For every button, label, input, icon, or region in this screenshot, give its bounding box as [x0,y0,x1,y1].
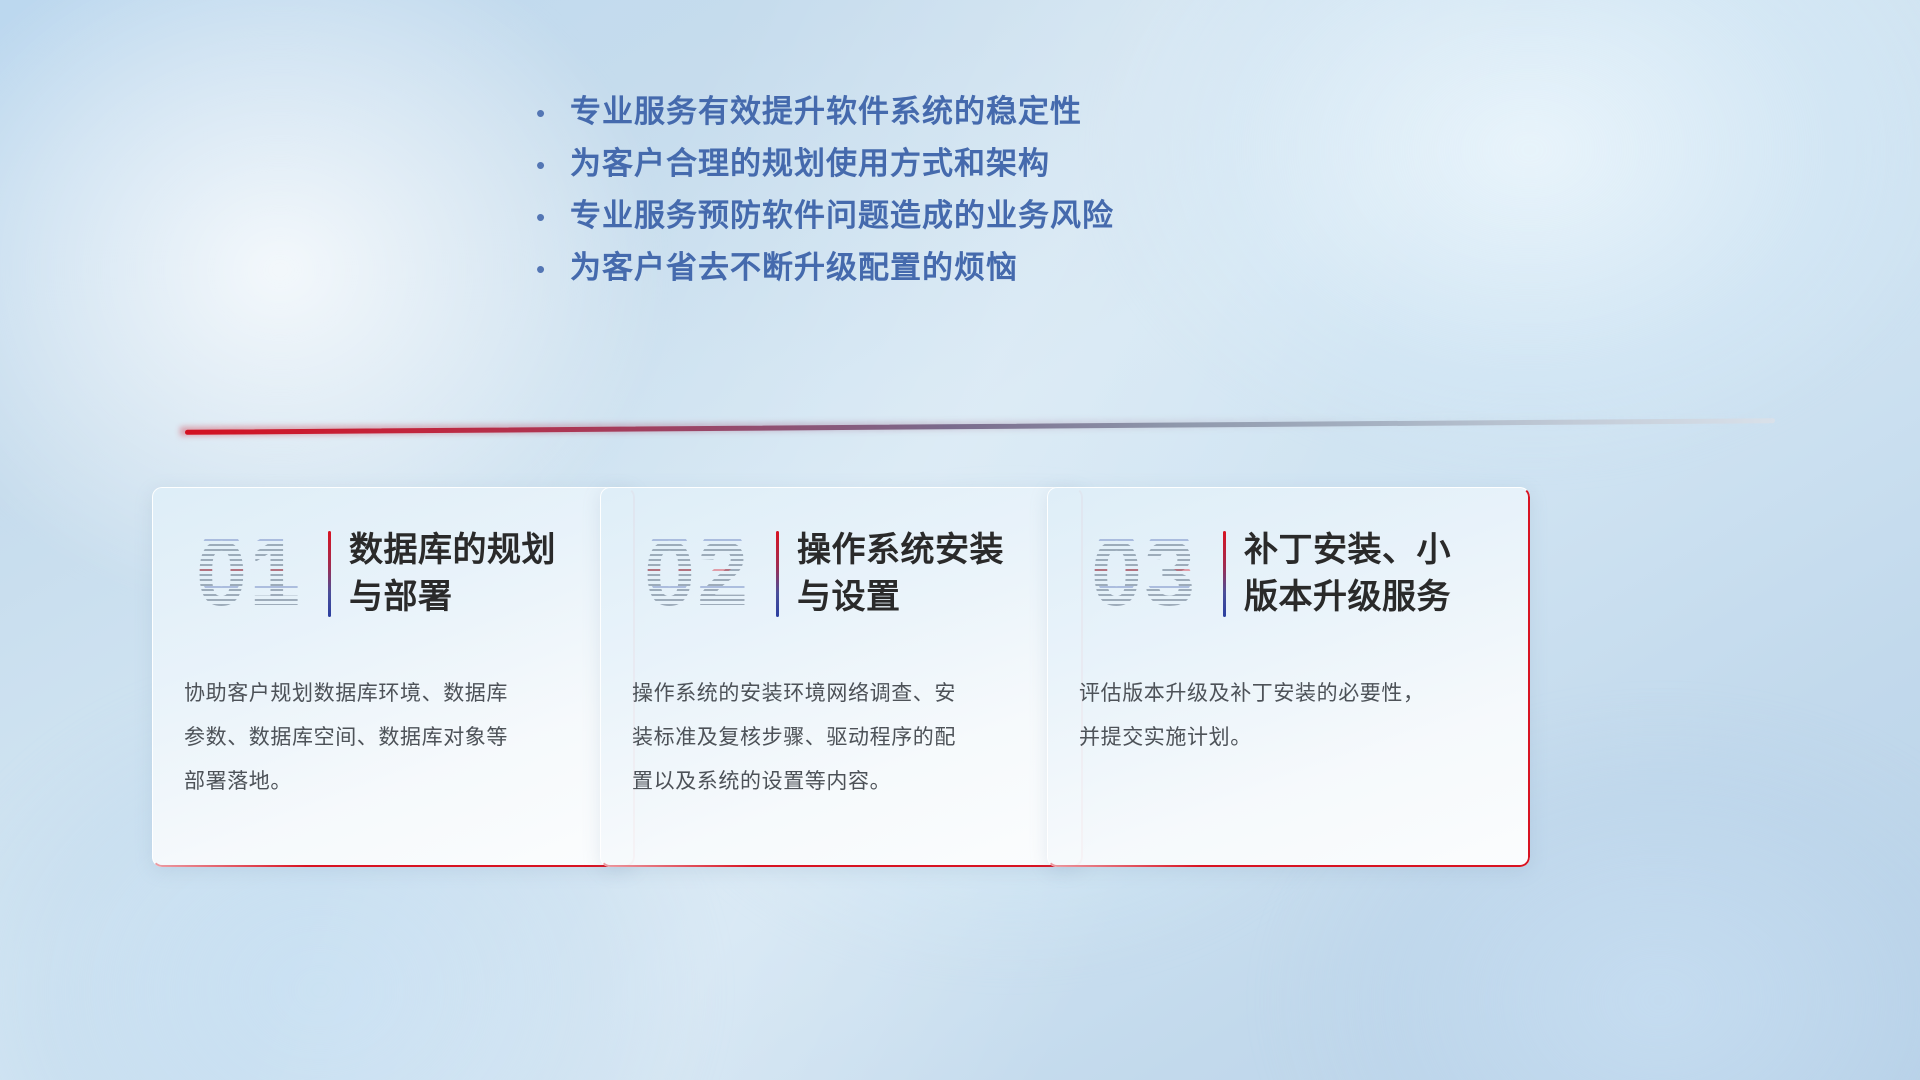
benefits-bullet-list: • 专业服务有效提升软件系统的稳定性 • 为客户合理的规划使用方式和架构 • 专… [536,86,1436,294]
card-number: 03 [1069,519,1219,629]
service-card[interactable]: 01 01 数据库的规划 与部署 协助客户规划数据库环境、数据库 参数、数据库空… [152,487,635,867]
bullet-item: • 为客户合理的规划使用方式和架构 [536,138,1436,190]
card-header: 01 01 数据库的规划 与部署 [152,509,635,639]
bullet-item-label: 专业服务预防软件问题造成的业务风险 [570,190,1114,242]
bullet-item: • 为客户省去不断升级配置的烦恼 [536,242,1436,294]
card-title: 操作系统安装 与设置 [797,527,1083,621]
bullet-marker-icon: • [536,139,570,191]
card-title: 数据库的规划 与部署 [349,527,635,621]
card-title-separator [776,531,779,617]
service-card-group: 01 01 数据库的规划 与部署 协助客户规划数据库环境、数据库 参数、数据库空… [0,487,1920,907]
card-body-text: 评估版本升级及补丁安装的必要性， 并提交实施计划。 [1079,672,1500,760]
service-card[interactable]: 02 02 操作系统安装 与设置 操作系统的安装环境网络调查、安 装标准及复核步… [600,487,1083,867]
bullet-item-label: 为客户省去不断升级配置的烦恼 [570,242,1018,294]
bullet-marker-icon: • [536,87,570,139]
card-number: 02 [622,519,772,629]
service-card[interactable]: 03 03 补丁安装、小 版本升级服务 评估版本升级及补丁安装的必要性， 并提交… [1047,487,1530,867]
card-body-text: 协助客户规划数据库环境、数据库 参数、数据库空间、数据库对象等 部署落地。 [184,672,605,804]
card-title-separator [1223,531,1226,617]
bullet-marker-icon: • [536,243,570,295]
card-title-separator [328,531,331,617]
bullet-item: • 专业服务预防软件问题造成的业务风险 [536,190,1436,242]
card-header: 02 02 操作系统安装 与设置 [600,509,1083,639]
bullet-item-label: 为客户合理的规划使用方式和架构 [570,138,1050,190]
bullet-marker-icon: • [536,191,570,243]
card-header: 03 03 补丁安装、小 版本升级服务 [1047,509,1530,639]
bullet-item: • 专业服务有效提升软件系统的稳定性 [536,86,1436,138]
card-body-text: 操作系统的安装环境网络调查、安 装标准及复核步骤、驱动程序的配 置以及系统的设置… [632,672,1053,804]
bullet-item-label: 专业服务有效提升软件系统的稳定性 [570,86,1082,138]
card-title: 补丁安装、小 版本升级服务 [1244,527,1530,621]
card-number: 01 [174,519,324,629]
section-divider [150,404,1780,438]
